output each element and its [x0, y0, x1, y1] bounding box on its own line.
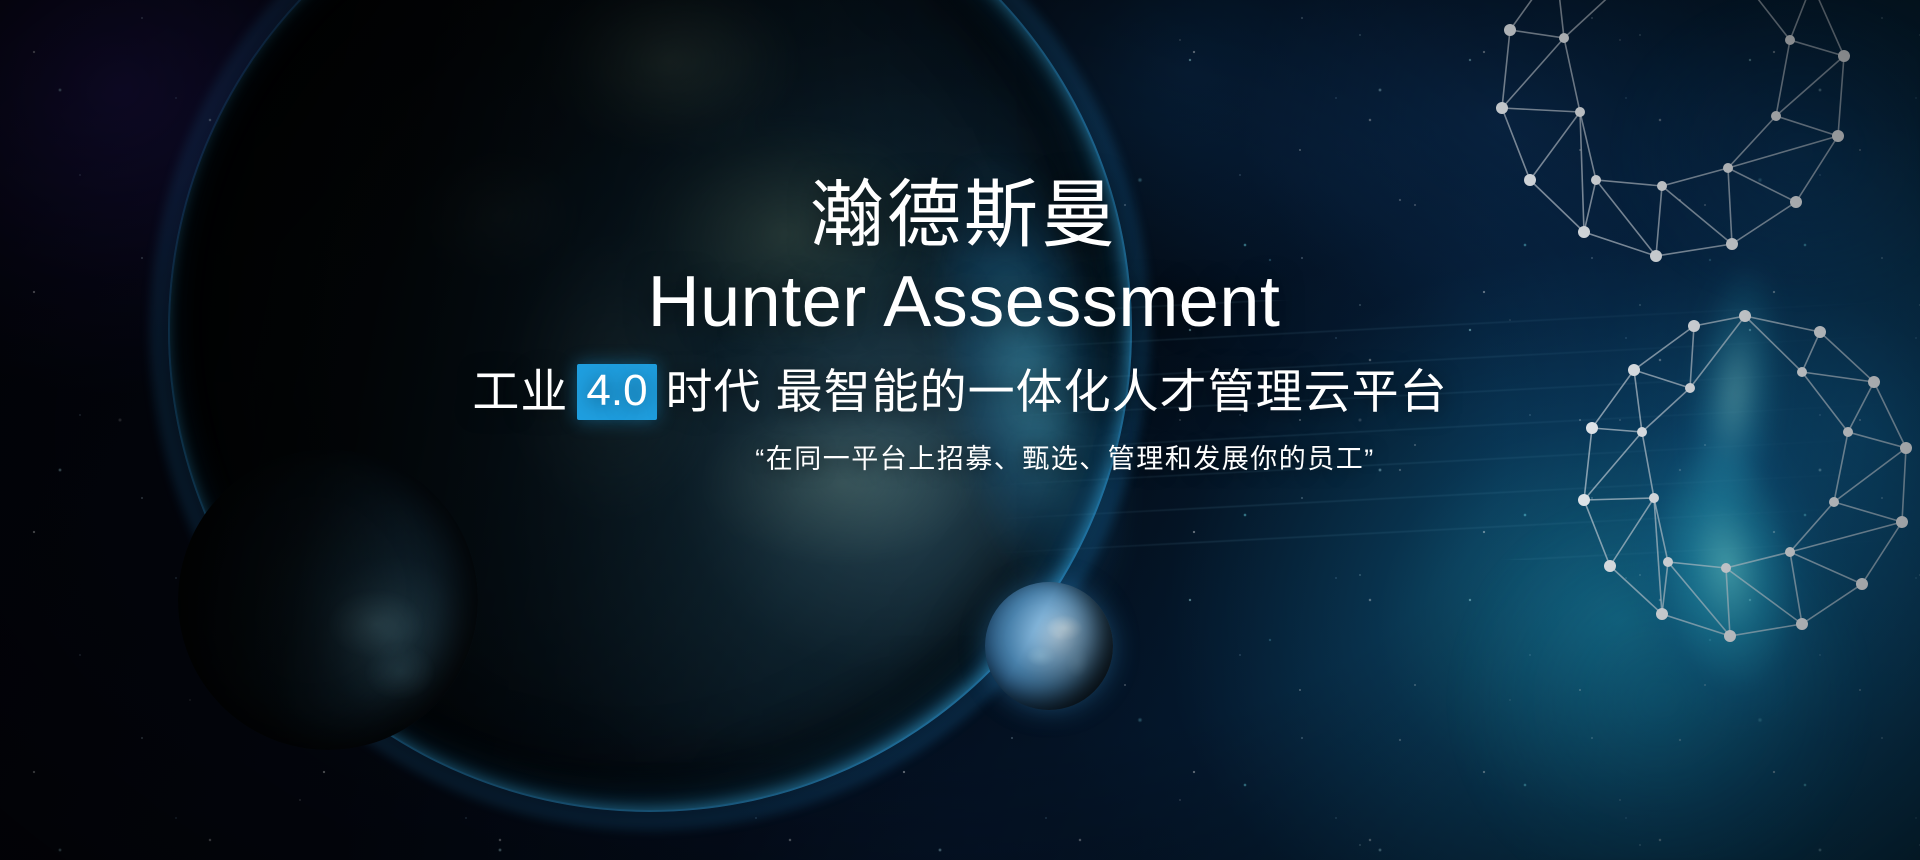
tagline-suffix: 时代 最智能的一体化人才管理云平台 — [666, 366, 1448, 419]
hero-banner: 瀚德斯曼 Hunter Assessment 工业 4.0 时代 最智能的一体化… — [0, 0, 1920, 860]
tagline: 工业 4.0 时代 最智能的一体化人才管理云平台 — [0, 364, 1920, 420]
small-blue-moon-shadow — [985, 582, 1113, 710]
hero-copy-block: 瀚德斯曼 Hunter Assessment 工业 4.0 时代 最智能的一体化… — [0, 178, 1920, 477]
dark-moon-shadow — [178, 450, 478, 750]
small-blue-moon — [985, 582, 1113, 710]
dark-moon — [178, 450, 478, 750]
brand-name-english: Hunter Assessment — [0, 266, 1920, 338]
tagline-prefix: 工业 — [472, 366, 568, 419]
industry-version-badge: 4.0 — [577, 364, 656, 420]
subtitle-quote: “在同一平台上招募、甄选、管理和发展你的员工” — [0, 442, 1920, 477]
brand-name-chinese: 瀚德斯曼 — [0, 178, 1920, 252]
